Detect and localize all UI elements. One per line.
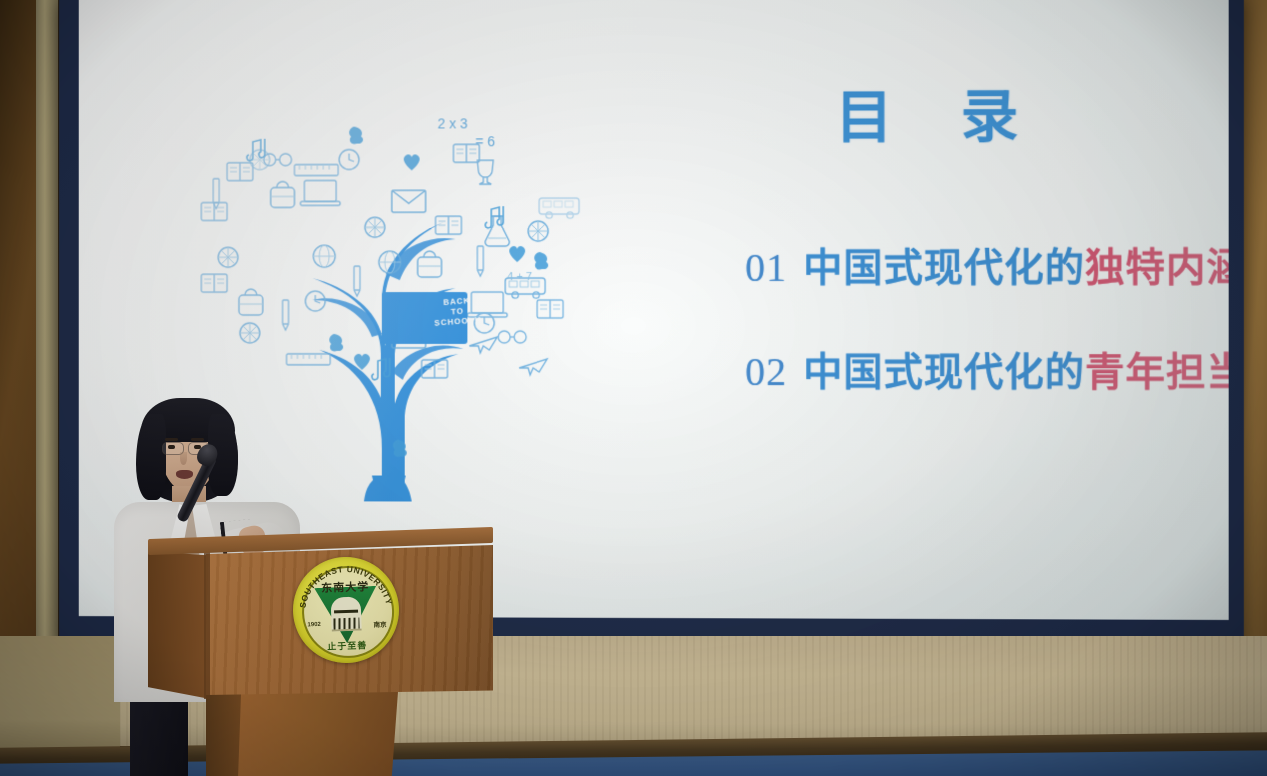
presenter-nose [180,452,187,465]
wall-strip-left [36,0,58,700]
toc-number: 01 [745,244,787,291]
toc-main-text: 中国式现代化的 [803,237,1085,293]
svg-text:= 6: = 6 [475,133,495,149]
presenter-mouth [176,470,193,479]
emblem-year: 1902 [307,622,321,628]
toc-main-text: 中国式现代化的 [803,341,1085,397]
presenter-brow-right [191,438,204,441]
toc-item-01: 01 中国式现代化的 独特内涵 [745,236,1229,293]
lecture-hall-scene: 2 x 3 = 6 4 + 7 BACK TO SCHOOL!! 目 录 01 [0,0,1267,776]
toc-accent-text: 青年担当 [1085,341,1229,397]
svg-text:4 + 7: 4 + 7 [507,271,532,283]
podium-side-panel [148,551,210,699]
presenter-hair-left [136,414,166,500]
toc-accent-text: 独特内涵 [1085,236,1229,292]
speaker-podium: SOUTHEAST UNIVERSITY 东南大学 1902 南京 止于至善 [148,533,493,776]
podium-base [238,689,398,776]
presenter-brow-left [165,438,178,441]
podium-base-side [206,691,242,776]
svg-text:2 x 3: 2 x 3 [438,115,468,131]
toc-item-02: 02 中国式现代化的 青年担当 [745,341,1229,398]
podium-corner-edge [204,541,210,699]
slide-toc-list: 01 中国式现代化的 独特内涵 02 中国式现代化的 青年担当 [745,236,1229,445]
university-emblem: SOUTHEAST UNIVERSITY 东南大学 1902 南京 止于至善 [291,555,401,665]
emblem-city: 南京 [373,619,386,629]
emblem-building-icon [331,596,362,631]
presenter-eye-left [168,445,175,449]
slide-title: 目 录 [835,71,1044,154]
toc-number: 02 [745,348,787,395]
